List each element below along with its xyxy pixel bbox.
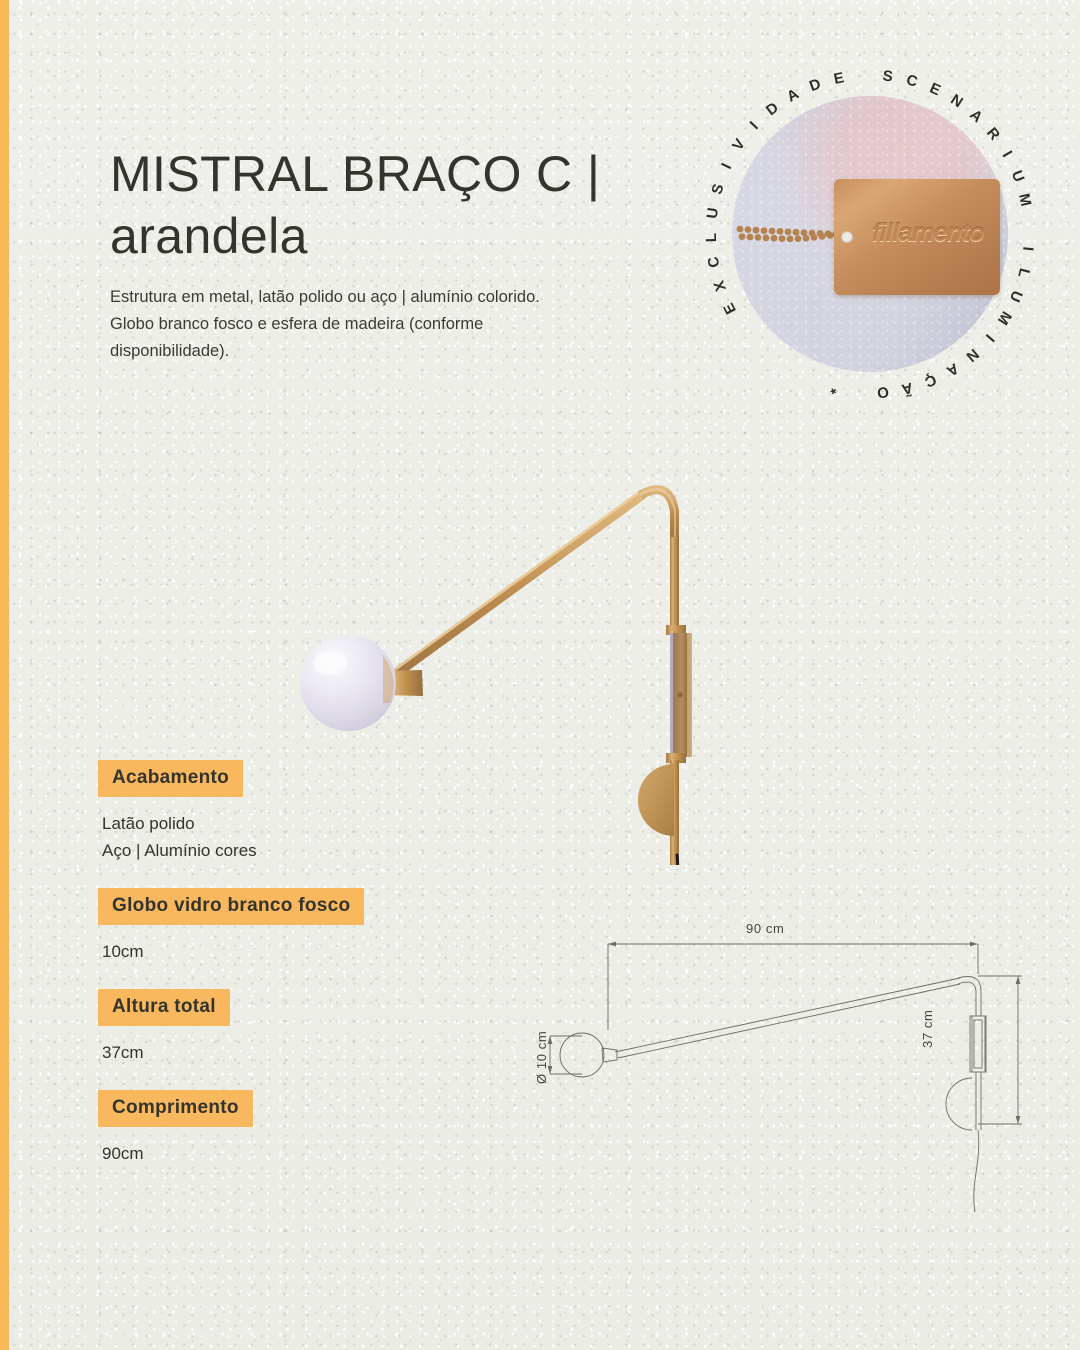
page-title-line-1: MISTRAL BRAÇO C | — [110, 143, 730, 205]
lamp-stem — [670, 537, 679, 632]
product-description: Estrutura em metal, latão polido ou aço … — [110, 284, 550, 365]
tech-drawing-svg — [520, 912, 1060, 1242]
brand-wordmark: fillamento — [860, 219, 996, 248]
dimension-globe-label: Ø 10 cm — [534, 1031, 549, 1084]
exclusivity-seal-badge: fillamento EXCLUSIVIDADESCENARIUMILUMINA… — [700, 64, 1040, 404]
spec-value: 10cm — [102, 938, 528, 965]
wall-bar — [666, 625, 692, 763]
spec-value: Aço | Alumínio cores — [102, 837, 528, 864]
left-accent-strip — [0, 0, 9, 1350]
dimension-width-label: 90 cm — [746, 921, 784, 936]
spec-label-altura: Altura total — [98, 989, 230, 1026]
spec-values-comprimento: 90cm — [98, 1140, 528, 1167]
page-title-line-2: arandela — [110, 205, 730, 267]
spec-values-altura: 37cm — [98, 1039, 528, 1066]
spec-values-globo: 10cm — [98, 938, 528, 965]
spec-values-acabamento: Latão polido Aço | Alumínio cores — [98, 810, 528, 864]
spec-value: Latão polido — [102, 810, 528, 837]
spec-value: 90cm — [102, 1140, 528, 1167]
spec-label-globo: Globo vidro branco fosco — [98, 888, 364, 925]
spec-label-comprimento: Comprimento — [98, 1090, 253, 1127]
product-spec-sheet: MISTRAL BRAÇO C | arandela Estrutura em … — [0, 0, 1080, 1350]
dimension-height-label: 37 cm — [920, 1010, 935, 1048]
dimension-line-drawing: 90 cm 37 cm Ø 10 cm — [520, 912, 1060, 1242]
tag-hole — [841, 231, 853, 243]
spec-group-acabamento: Acabamento Latão polido Aço | Alumínio c… — [98, 760, 528, 864]
lamp-arm — [373, 490, 646, 692]
spec-value: 37cm — [102, 1039, 528, 1066]
page-title-block: MISTRAL BRAÇO C | arandela Estrutura em … — [110, 143, 730, 365]
spec-label-acabamento: Acabamento — [98, 760, 243, 797]
metal-tag-icon: fillamento — [834, 179, 1000, 295]
spec-group-altura: Altura total 37cm — [98, 989, 528, 1066]
spec-group-globo: Globo vidro branco fosco 10cm — [98, 888, 528, 965]
lamp-globe — [300, 635, 423, 731]
lamp-elbow — [638, 485, 679, 541]
spec-group-comprimento: Comprimento 90cm — [98, 1090, 528, 1167]
specification-list: Acabamento Latão polido Aço | Alumínio c… — [98, 760, 528, 1191]
